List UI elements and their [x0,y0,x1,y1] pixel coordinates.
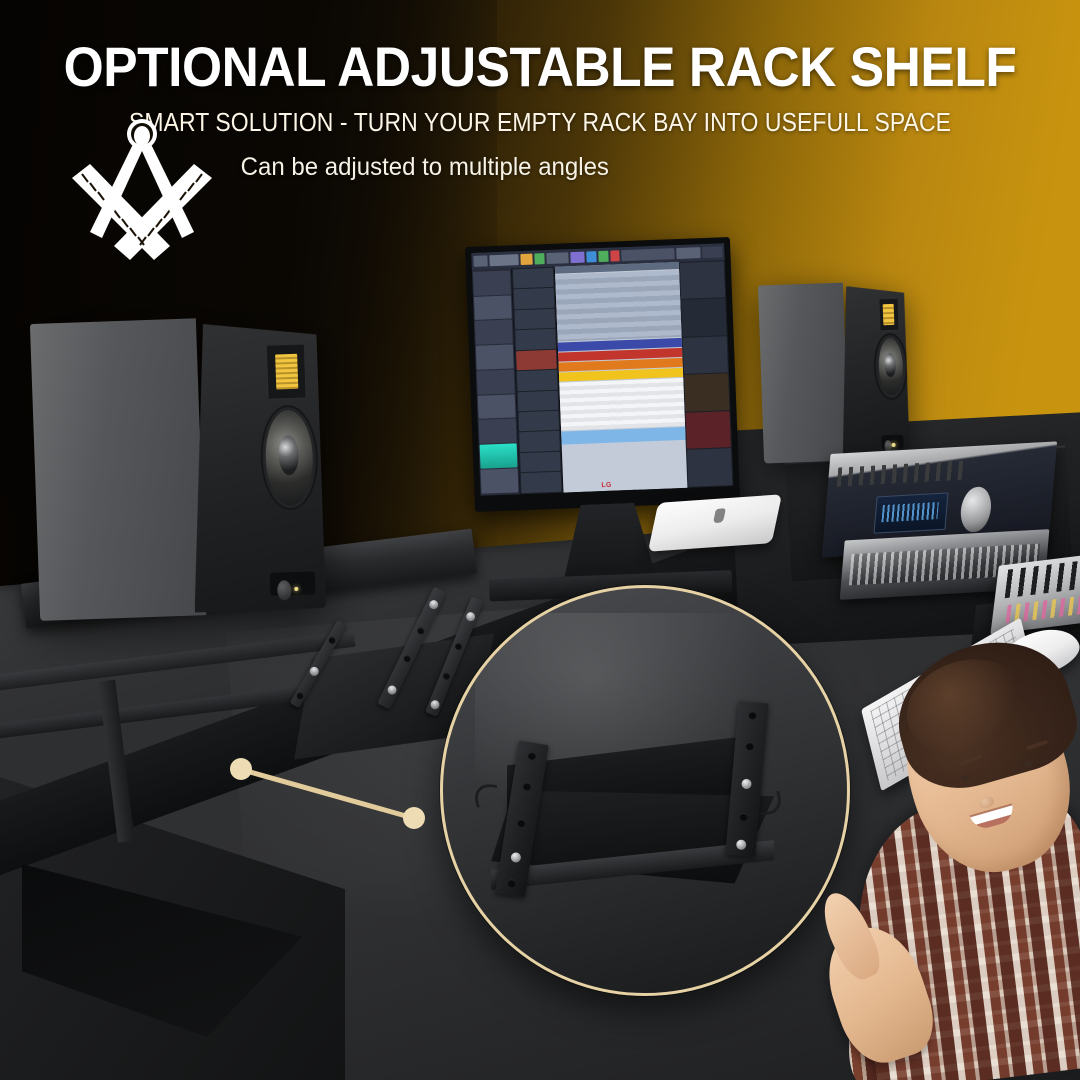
product-marketing-image: LG [0,0,1080,1080]
monitor-screen: LG [471,243,733,495]
monitor-bezel: LG [465,237,740,512]
rack-knob-row[interactable] [837,461,965,487]
speaker-cabinet-side [758,283,849,464]
rack-jog-dial[interactable] [959,486,992,533]
speaker-woofer [264,409,315,506]
ribbon-tweeter-plate [265,343,306,399]
speaker-cabinet-side [29,318,205,621]
speaker-baffle [184,320,326,612]
lg-monitor: LG [465,237,740,512]
mac-mini [648,494,782,551]
daw-body [472,260,733,495]
lg-logo: LG [601,481,612,488]
studio-monitor-speaker-right [758,280,910,463]
page-title: OPTIONAL ADJUSTABLE RACK SHELF [43,0,1037,95]
daw-plugin-rack [679,260,733,487]
ribbon-tweeter [883,304,895,325]
ribbon-tweeter-plate [879,298,900,332]
smiling-man-thumbs-up [788,626,1080,1080]
speaker-power-led [892,443,896,447]
speaker-power-led [293,587,297,591]
compass-and-square-icon [62,112,222,262]
studio-monitor-speaker-left [29,314,325,621]
ribbon-tweeter [274,353,297,389]
speaker-baffle [837,284,910,459]
speaker-volume-knob[interactable] [276,580,291,601]
daw-arrangement-timeline [555,262,687,492]
speaker-woofer [878,338,904,396]
rack-lcd-display [874,493,950,534]
speaker-bass-port [269,570,315,595]
